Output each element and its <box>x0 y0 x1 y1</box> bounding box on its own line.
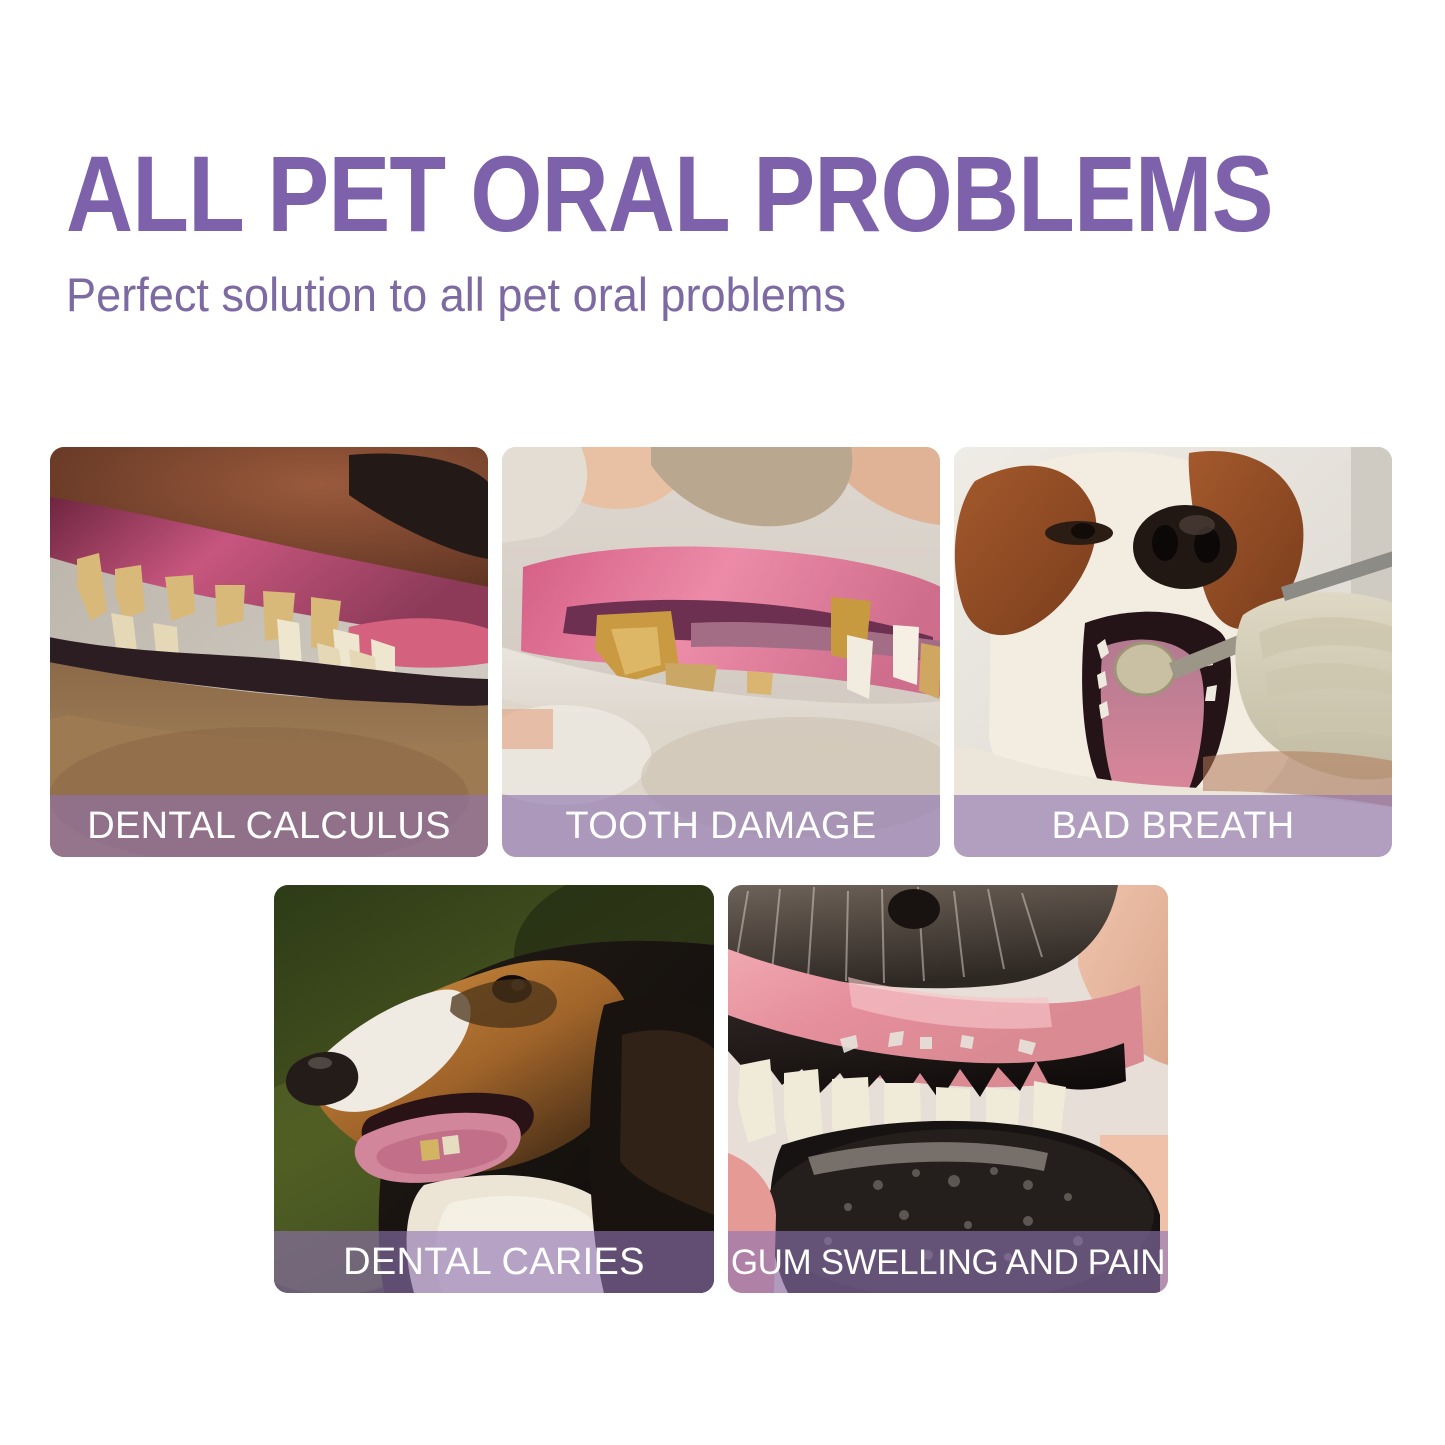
gallery-row-bottom: DENTAL CARIES <box>274 885 1168 1293</box>
card-caption-label: GUM SWELLING AND PAIN <box>731 1245 1165 1280</box>
problem-card-dental-calculus[interactable]: DENTAL CALCULUS <box>50 447 488 857</box>
card-caption-label: DENTAL CALCULUS <box>87 807 450 845</box>
page-title: ALL PET ORAL PROBLEMS <box>66 140 1201 248</box>
card-caption-bar: TOOTH DAMAGE <box>502 795 940 857</box>
card-caption-bar: DENTAL CALCULUS <box>50 795 488 857</box>
page-subtitle: Perfect solution to all pet oral problem… <box>66 270 1333 321</box>
card-caption-label: TOOTH DAMAGE <box>565 807 876 845</box>
card-caption-label: DENTAL CARIES <box>343 1243 645 1281</box>
problem-card-tooth-damage[interactable]: TOOTH DAMAGE <box>502 447 940 857</box>
problem-card-bad-breath[interactable]: BAD BREATH <box>954 447 1392 857</box>
problem-card-gum-swelling[interactable]: GUM SWELLING AND PAIN <box>728 885 1168 1293</box>
problem-card-dental-caries[interactable]: DENTAL CARIES <box>274 885 714 1293</box>
card-caption-bar: BAD BREATH <box>954 795 1392 857</box>
problem-gallery: DENTAL CALCULUS <box>0 447 1445 1307</box>
card-caption-label: BAD BREATH <box>1051 807 1294 845</box>
gallery-row-top: DENTAL CALCULUS <box>50 447 1392 857</box>
card-caption-bar: DENTAL CARIES <box>274 1231 714 1293</box>
card-caption-bar: GUM SWELLING AND PAIN <box>728 1231 1168 1293</box>
header: ALL PET ORAL PROBLEMS Perfect solution t… <box>66 140 1386 321</box>
